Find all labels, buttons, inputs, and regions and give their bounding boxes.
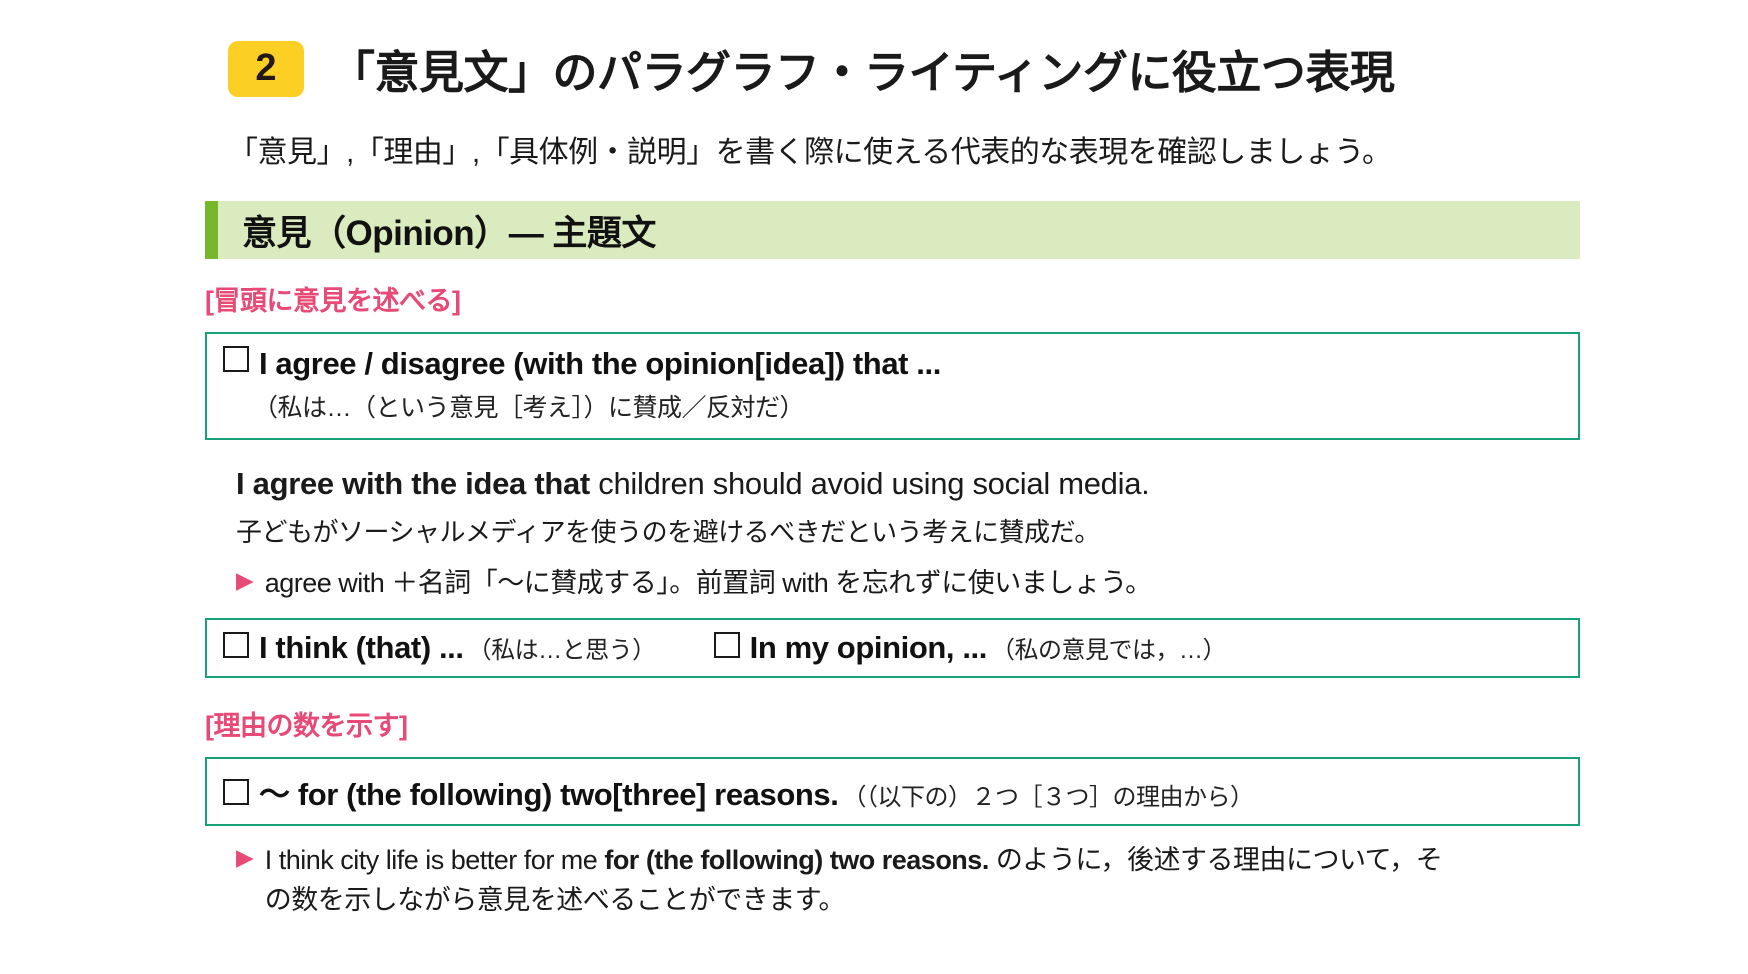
note-reasons-bold: for (the following) two reasons. [604, 845, 989, 875]
checkbox-icon[interactable] [223, 632, 249, 658]
phrase-item-i-think: I think (that) ... （私は…と思う） [223, 630, 656, 666]
page-subtitle: 「意見」,「理由」,「具体例・説明」を書く際に使える代表的な表現を確認しましょう… [228, 127, 1748, 171]
label-number-of-reasons: [理由の数を示す] [205, 704, 1748, 743]
page-title: 「意見文」のパラグラフ・ライティングに役立つ表現 [330, 36, 1394, 101]
section-header-bar: 意見（Opinion）― 主題文 [205, 201, 1580, 259]
checkbox-icon[interactable] [223, 346, 249, 372]
example-sentence-english: I agree with the idea that children shou… [236, 466, 1748, 502]
phrase-japanese-two-reasons: （（以下の）２つ［３つ］の理由から） [843, 777, 1254, 812]
example-sentence-japanese: 子どもがソーシャルメディアを使うのを避けるべきだという考えに賛成だ。 [236, 512, 1748, 549]
note-reasons-text: I think city life is better for me for (… [265, 840, 1460, 921]
phrase-japanese-in-my-opinion: （私の意見では，…） [991, 630, 1226, 665]
worksheet-page: 2 「意見文」のパラグラフ・ライティングに役立つ表現 「意見」,「理由」,「具体… [0, 36, 1748, 974]
checkbox-icon[interactable] [223, 779, 249, 805]
page-heading: 2 「意見文」のパラグラフ・ライティングに役立つ表現 [228, 36, 1748, 101]
phrase-english-in-my-opinion: In my opinion, ... [750, 630, 987, 666]
checkbox-icon[interactable] [714, 632, 740, 658]
section-header-title: 意見（Opinion）― 主題文 [242, 205, 656, 256]
section-accent-bar [205, 201, 218, 259]
section-number-badge: 2 [228, 41, 304, 97]
phrase-box-think-opinion: I think (that) ... （私は…と思う） In my opinio… [205, 618, 1580, 678]
phrase-box-agree-disagree: I agree / disagree (with the opinion[ide… [205, 332, 1580, 440]
phrase-box-two-reasons: 〜 for (the following) two[three] reasons… [205, 757, 1580, 826]
note-agree-with: ▶ agree with ＋名詞「〜に賛成する」。前置詞 with を忘れずに使… [236, 563, 1576, 604]
phrase-english-two-reasons: 〜 for (the following) two[three] reasons… [259, 769, 839, 814]
example-plain-part: children should avoid using social media… [590, 466, 1150, 501]
section-number-text: 2 [255, 47, 276, 90]
phrase-english-i-think: I think (that) ... [259, 630, 464, 666]
phrase-japanese-i-think: （私は…と思う） [468, 630, 656, 665]
triangle-bullet-icon: ▶ [236, 563, 254, 598]
note-reasons: ▶ I think city life is better for me for… [236, 840, 1576, 921]
phrase-item-in-my-opinion: In my opinion, ... （私の意見では，…） [714, 630, 1226, 666]
phrase-japanese-agree-disagree: （私は…（という意見［考え］）に賛成／反対だ） [253, 388, 1562, 424]
note-agree-with-text: agree with ＋名詞「〜に賛成する」。前置詞 with を忘れずに使いま… [265, 563, 1152, 604]
label-opening-opinion: [冒頭に意見を述べる] [205, 279, 1748, 318]
phrase-english-agree-disagree: I agree / disagree (with the opinion[ide… [259, 346, 941, 382]
triangle-bullet-icon: ▶ [236, 840, 254, 875]
example-bold-part: I agree with the idea that [236, 466, 590, 501]
note-reasons-part1: I think city life is better for me [265, 845, 605, 875]
